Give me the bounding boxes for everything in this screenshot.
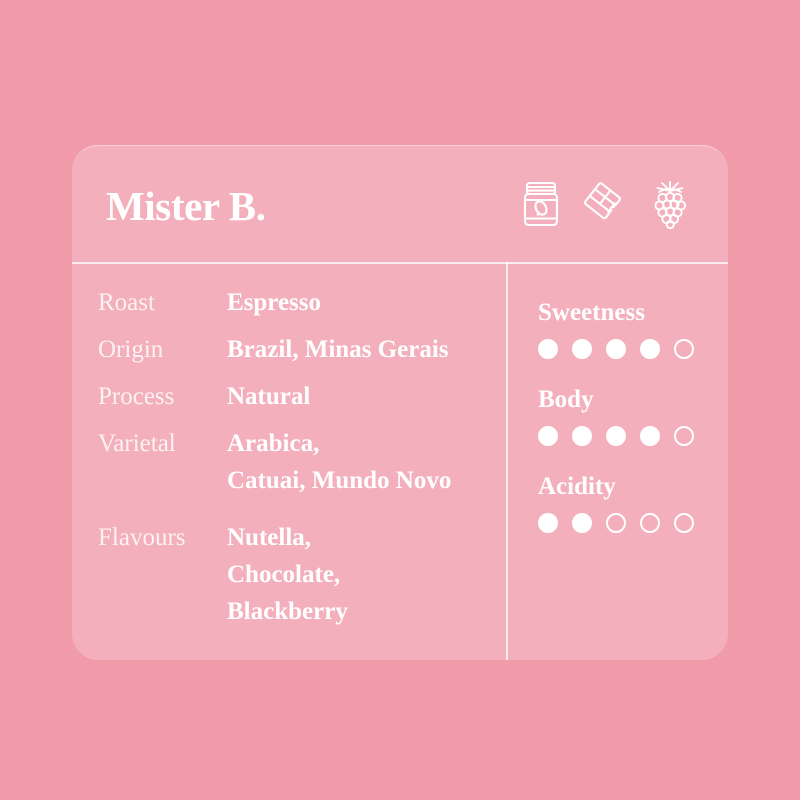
- spec-label-origin: Origin: [98, 331, 227, 368]
- rating-dot-filled: [640, 426, 660, 446]
- coffee-label-card: Mister B.: [72, 145, 728, 660]
- spec-row-varietal: Varietal Arabica, Catuai, Mundo Novo: [98, 425, 506, 499]
- rating-dot-filled: [538, 426, 558, 446]
- rating-dot-filled: [572, 513, 592, 533]
- rating-dot-empty: [674, 513, 694, 533]
- rating-label-sweetness: Sweetness: [538, 300, 728, 325]
- rating-dot-filled: [572, 426, 592, 446]
- spec-label-varietal: Varietal: [98, 425, 227, 462]
- rating-dots-sweetness: [538, 339, 728, 359]
- rating-dot-empty: [674, 339, 694, 359]
- spec-row-process: Process Natural: [98, 378, 506, 415]
- nutella-jar-icon: [520, 180, 562, 228]
- chocolate-bar-icon: [581, 180, 629, 228]
- spec-label-flavours: Flavours: [98, 519, 227, 556]
- rating-label-body: Body: [538, 387, 728, 412]
- spec-value: Catuai, Mundo Novo: [227, 462, 451, 499]
- rating-dot-filled: [640, 339, 660, 359]
- coffee-label-stage: Mister B.: [0, 0, 800, 800]
- rating-dot-filled: [538, 513, 558, 533]
- spec-value: Espresso: [227, 284, 321, 321]
- spec-value: Nutella,: [227, 519, 348, 556]
- rating-dots-body: [538, 426, 728, 446]
- rating-dot-empty: [674, 426, 694, 446]
- flavour-icon-group: [520, 179, 692, 229]
- spec-values-roast: Espresso: [227, 284, 321, 321]
- rating-dot-empty: [606, 513, 626, 533]
- rating-dots-acidity: [538, 513, 728, 533]
- spec-value: Arabica,: [227, 425, 451, 462]
- spec-label-roast: Roast: [98, 284, 227, 321]
- blackberry-icon: [648, 179, 692, 229]
- rating-dot-filled: [606, 339, 626, 359]
- rating-group-acidity: Acidity: [538, 474, 728, 533]
- rating-label-acidity: Acidity: [538, 474, 728, 499]
- card-header: Mister B.: [72, 146, 728, 262]
- spec-value: Natural: [227, 378, 310, 415]
- spec-value: Blackberry: [227, 593, 348, 630]
- rating-dot-empty: [640, 513, 660, 533]
- rating-dot-filled: [572, 339, 592, 359]
- spec-row-roast: Roast Espresso: [98, 284, 506, 321]
- spec-value: Brazil, Minas Gerais: [227, 331, 449, 368]
- spec-panel: Roast Espresso Origin Brazil, Minas Gera…: [72, 262, 506, 660]
- rating-panel: Sweetness Body Acidity: [506, 262, 728, 660]
- rating-dot-filled: [606, 426, 626, 446]
- spec-row-origin: Origin Brazil, Minas Gerais: [98, 331, 506, 368]
- card-body: Roast Espresso Origin Brazil, Minas Gera…: [72, 262, 728, 660]
- spec-values-varietal: Arabica, Catuai, Mundo Novo: [227, 425, 451, 499]
- rating-group-sweetness: Sweetness: [538, 300, 728, 359]
- spec-label-process: Process: [98, 378, 227, 415]
- spec-values-flavours: Nutella, Chocolate, Blackberry: [227, 519, 348, 630]
- spec-row-flavours: Flavours Nutella, Chocolate, Blackberry: [98, 519, 506, 630]
- rating-group-body: Body: [538, 387, 728, 446]
- spec-values-origin: Brazil, Minas Gerais: [227, 331, 449, 368]
- rating-dot-filled: [538, 339, 558, 359]
- page-title: Mister B.: [106, 186, 266, 227]
- spec-values-process: Natural: [227, 378, 310, 415]
- spec-value: Chocolate,: [227, 556, 348, 593]
